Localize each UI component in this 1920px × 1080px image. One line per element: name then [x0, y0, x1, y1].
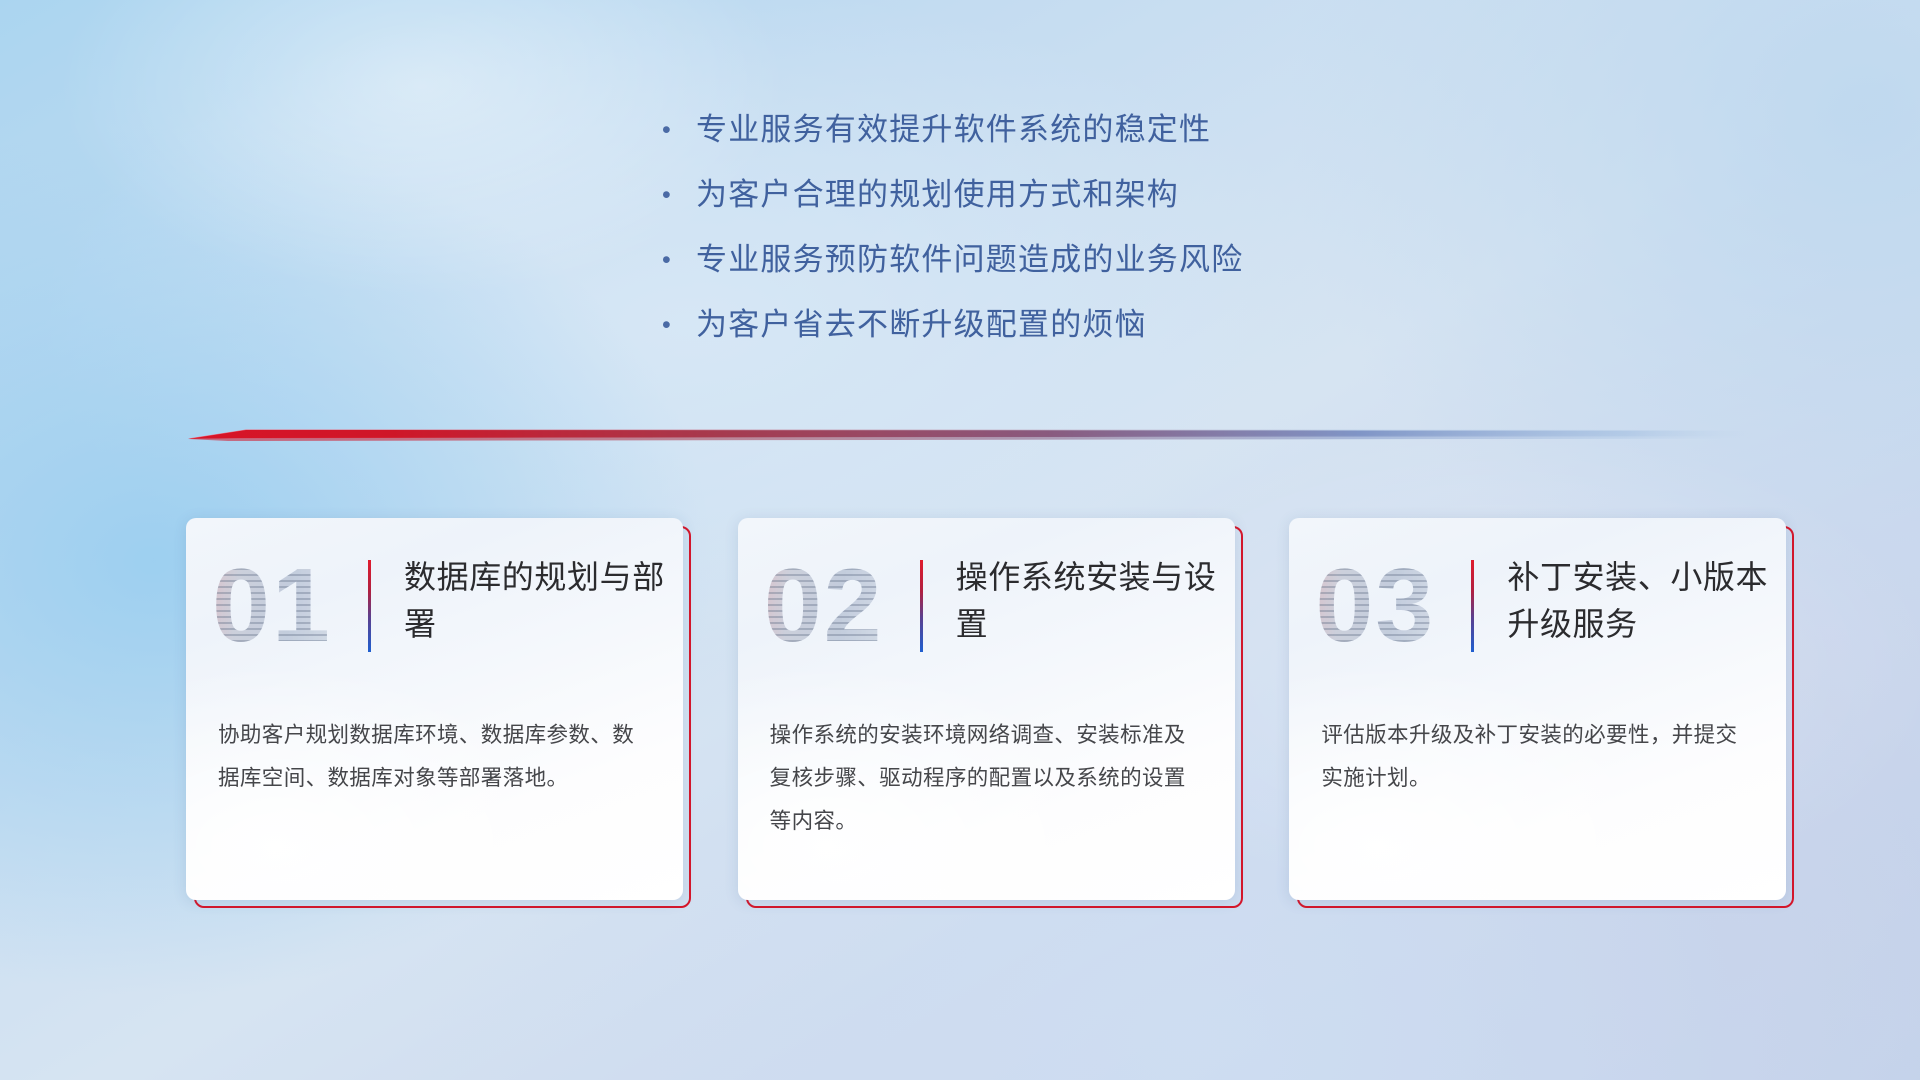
card-number-ghost: 03 — [1305, 550, 1445, 662]
service-card[interactable]: 01 01 数据库的规划与部署 协助客户规划数据库环境、数据库参数、数据库空间、… — [186, 518, 683, 900]
service-card[interactable]: 02 02 操作系统安装与设置 操作系统的安装环境网络调查、安装标准及复核步骤、… — [738, 518, 1235, 900]
card-title-accent-bar — [368, 560, 371, 652]
slide-canvas: • 专业服务有效提升软件系统的稳定性 • 为客户合理的规划使用方式和架构 • 专… — [0, 0, 1920, 1080]
card-header: 01 01 数据库的规划与部署 — [186, 518, 683, 694]
bullet-text: 为客户省去不断升级配置的烦恼 — [696, 303, 1147, 347]
card-description: 协助客户规划数据库环境、数据库参数、数据库空间、数据库对象等部署落地。 — [218, 714, 650, 800]
benefits-bullet-list: • 专业服务有效提升软件系统的稳定性 • 为客户合理的规划使用方式和架构 • 专… — [662, 108, 1243, 368]
card-description: 评估版本升级及补丁安装的必要性，并提交实施计划。 — [1321, 714, 1753, 800]
service-card[interactable]: 03 03 补丁安装、小版本升级服务 评估版本升级及补丁安装的必要性，并提交实施… — [1289, 518, 1786, 900]
card-number-ghost: 02 — [754, 550, 894, 662]
bullet-text: 专业服务有效提升软件系统的稳定性 — [696, 108, 1211, 152]
card-title: 操作系统安装与设置 — [956, 554, 1218, 648]
list-item: • 专业服务预防软件问题造成的业务风险 — [662, 238, 1243, 303]
card-header: 03 03 补丁安装、小版本升级服务 — [1289, 518, 1786, 694]
bullet-text: 专业服务预防软件问题造成的业务风险 — [696, 238, 1243, 282]
card-title: 补丁安装、小版本升级服务 — [1507, 554, 1769, 648]
card-header: 02 02 操作系统安装与设置 — [738, 518, 1235, 694]
section-divider — [188, 418, 1752, 448]
card-surface: 01 01 数据库的规划与部署 协助客户规划数据库环境、数据库参数、数据库空间、… — [186, 518, 683, 900]
card-surface: 03 03 补丁安装、小版本升级服务 评估版本升级及补丁安装的必要性，并提交实施… — [1289, 518, 1786, 900]
bullet-dot-icon: • — [662, 108, 696, 152]
list-item: • 为客户合理的规划使用方式和架构 — [662, 173, 1243, 238]
divider-shape-icon — [188, 418, 1752, 448]
list-item: • 专业服务有效提升软件系统的稳定性 — [662, 108, 1243, 173]
card-number-ghost: 01 — [202, 550, 342, 662]
card-title-accent-bar — [1471, 560, 1474, 652]
bullet-text: 为客户合理的规划使用方式和架构 — [696, 173, 1179, 217]
card-title-accent-bar — [920, 560, 923, 652]
service-cards-row: 01 01 数据库的规划与部署 协助客户规划数据库环境、数据库参数、数据库空间、… — [186, 518, 1786, 928]
bullet-dot-icon: • — [662, 173, 696, 217]
card-surface: 02 02 操作系统安装与设置 操作系统的安装环境网络调查、安装标准及复核步骤、… — [738, 518, 1235, 900]
bullet-dot-icon: • — [662, 238, 696, 282]
card-description: 操作系统的安装环境网络调查、安装标准及复核步骤、驱动程序的配置以及系统的设置等内… — [770, 714, 1202, 843]
bullet-dot-icon: • — [662, 303, 696, 347]
card-title: 数据库的规划与部署 — [404, 554, 666, 648]
list-item: • 为客户省去不断升级配置的烦恼 — [662, 303, 1243, 368]
